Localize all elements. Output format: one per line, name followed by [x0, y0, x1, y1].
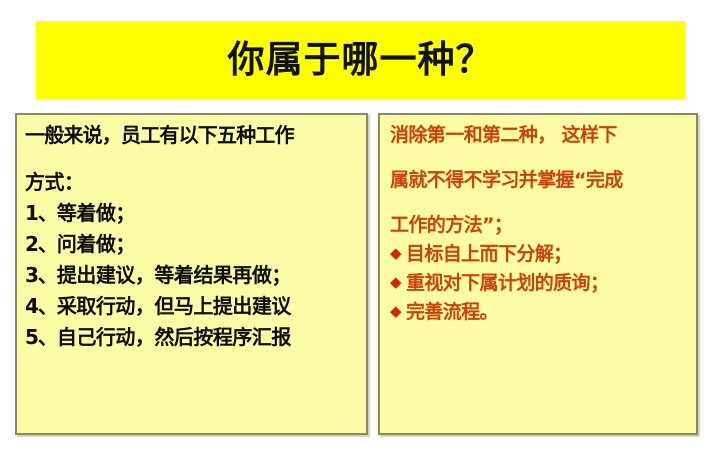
bullet-list-item: ◆ 重视对下属计划的质询； — [390, 274, 692, 294]
diamond-bullet-icon: ◆ — [390, 246, 401, 261]
bullet-list-item: ◆ 目标自上而下分解； — [390, 245, 692, 265]
list-item-text: 问着做； — [57, 232, 135, 256]
title-banner: 你属于哪一种？ — [36, 21, 685, 99]
list-item-number: 2、 — [25, 232, 57, 256]
diamond-bullet-icon: ◆ — [390, 304, 401, 319]
bullet-list-item: ◆ 完善流程。 — [390, 303, 692, 323]
list-item: 5、自己行动，然后按程序汇报 — [25, 327, 362, 348]
left-content-panel: 一般来说，员工有以下五种工作 方式： 1、等着做； 2、问着做； 3、提出建议，… — [15, 113, 368, 435]
list-item: 3、提出建议，等着结果再做； — [25, 265, 362, 286]
right-panel-body: 消除第一和第二种， 这样下 属就不得不学习并掌握“完成 工作的方法”； ◆ 目标… — [380, 115, 696, 323]
bullet-list-item-text: 完善流程。 — [406, 303, 498, 323]
list-item-number: 3、 — [25, 263, 57, 287]
right-paragraph-line-2: 属就不得不学习并掌握“完成 — [390, 171, 692, 191]
list-item-number: 4、 — [25, 294, 57, 318]
page-title: 你属于哪一种？ — [228, 41, 494, 78]
list-item-text: 采取行动，但马上提出建议 — [57, 294, 291, 318]
bullet-list-item-text: 重视对下属计划的质询； — [406, 274, 608, 294]
list-item-number: 1、 — [25, 201, 57, 225]
list-item: 2、问着做； — [25, 234, 362, 255]
list-item-number: 5、 — [25, 325, 57, 349]
right-paragraph-line-1: 消除第一和第二种， 这样下 — [390, 126, 692, 146]
left-intro-line-1: 一般来说，员工有以下五种工作 — [25, 125, 362, 146]
right-paragraph-line-3: 工作的方法”； — [390, 216, 692, 236]
right-content-panel: 消除第一和第二种， 这样下 属就不得不学习并掌握“完成 工作的方法”； ◆ 目标… — [378, 113, 698, 435]
bullet-list-item-text: 目标自上而下分解； — [406, 245, 572, 265]
slide-canvas: 你属于哪一种？ 一般来说，员工有以下五种工作 方式： 1、等着做； 2、问着做；… — [0, 0, 719, 459]
list-item: 1、等着做； — [25, 203, 362, 224]
list-item-text: 等着做； — [57, 201, 135, 225]
list-item-text: 自己行动，然后按程序汇报 — [57, 325, 291, 349]
left-panel-body: 一般来说，员工有以下五种工作 方式： 1、等着做； 2、问着做； 3、提出建议，… — [17, 115, 366, 348]
diamond-bullet-icon: ◆ — [390, 275, 401, 290]
left-intro-line-2: 方式： — [25, 172, 362, 193]
list-item-text: 提出建议，等着结果再做； — [57, 263, 291, 287]
list-item: 4、采取行动，但马上提出建议 — [25, 296, 362, 317]
